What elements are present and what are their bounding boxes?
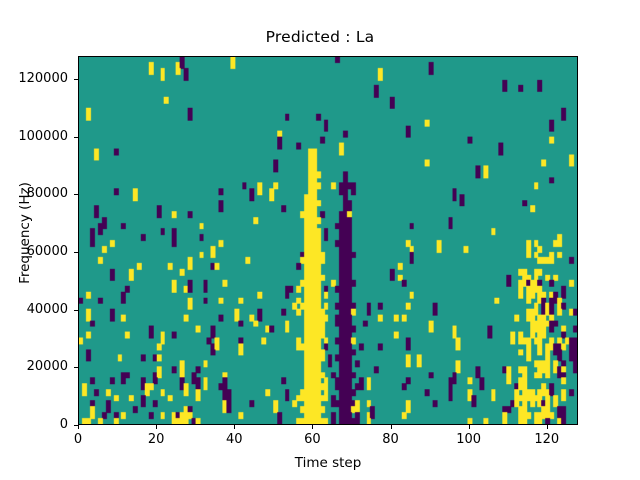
y-tick-mark bbox=[74, 367, 78, 368]
x-tick-mark bbox=[312, 425, 313, 429]
heatmap-axes bbox=[78, 56, 578, 425]
matplotlib-figure: Predicted : La 020406080100120 020000400… bbox=[0, 0, 640, 480]
y-tick-mark bbox=[74, 252, 78, 253]
x-tick-mark bbox=[156, 425, 157, 429]
heatmap-canvas bbox=[79, 57, 577, 424]
y-tick-label: 120000 bbox=[2, 71, 68, 86]
x-tick-mark bbox=[78, 425, 79, 429]
x-tick-label: 80 bbox=[361, 432, 421, 447]
x-tick-mark bbox=[391, 425, 392, 429]
chart-title: Predicted : La bbox=[0, 28, 640, 46]
y-tick-label: 100000 bbox=[2, 129, 68, 144]
y-axis-label: Frequency (Hz) bbox=[17, 153, 33, 313]
x-axis-label: Time step bbox=[78, 455, 578, 471]
x-tick-label: 40 bbox=[204, 432, 264, 447]
x-tick-mark bbox=[547, 425, 548, 429]
x-tick-label: 60 bbox=[282, 432, 342, 447]
y-tick-label: 20000 bbox=[2, 359, 68, 374]
x-tick-label: 120 bbox=[517, 432, 577, 447]
y-tick-mark bbox=[74, 79, 78, 80]
y-tick-label: 0 bbox=[2, 417, 68, 432]
x-tick-label: 20 bbox=[126, 432, 186, 447]
y-tick-mark bbox=[74, 137, 78, 138]
y-tick-label: 60000 bbox=[2, 244, 68, 259]
y-tick-label: 80000 bbox=[2, 186, 68, 201]
y-tick-mark bbox=[74, 310, 78, 311]
y-tick-label: 40000 bbox=[2, 302, 68, 317]
y-tick-mark bbox=[74, 425, 78, 426]
x-tick-mark bbox=[234, 425, 235, 429]
x-tick-label: 100 bbox=[439, 432, 499, 447]
x-tick-mark bbox=[469, 425, 470, 429]
y-tick-mark bbox=[74, 194, 78, 195]
x-tick-label: 0 bbox=[48, 432, 108, 447]
